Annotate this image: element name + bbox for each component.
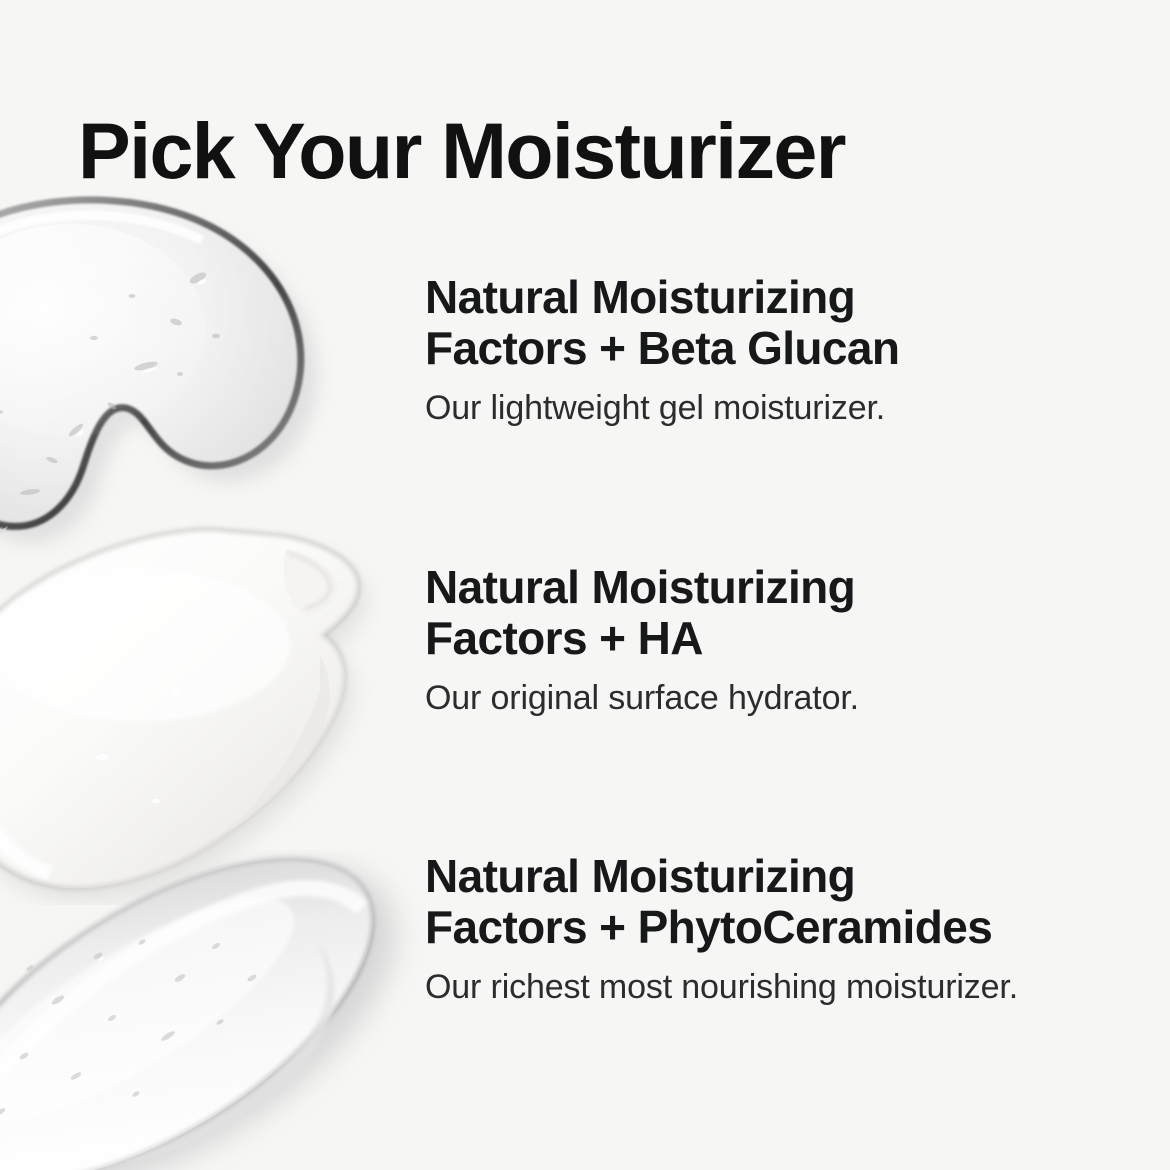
- product-list: Natural Moisturizing Factors + Beta Gluc…: [425, 0, 1115, 1170]
- product-name-line-1: Natural Moisturizing: [425, 850, 855, 902]
- white-cream-swatch-image: [0, 505, 410, 905]
- product-name: Natural Moisturizing Factors + Beta Gluc…: [425, 272, 1105, 374]
- product-description: Our richest most nourishing moisturizer.: [425, 967, 1105, 1008]
- rich-cream-swatch-image: [0, 850, 440, 1170]
- product-item-phytoceramides: Natural Moisturizing Factors + PhytoCera…: [425, 851, 1105, 1008]
- product-item-beta-glucan: Natural Moisturizing Factors + Beta Gluc…: [425, 272, 1105, 429]
- product-name: Natural Moisturizing Factors + HA: [425, 562, 1105, 664]
- product-name-line-2: Factors + PhytoCeramides: [425, 901, 992, 953]
- product-description: Our lightweight gel moisturizer.: [425, 388, 1105, 429]
- product-name-line-2: Factors + HA: [425, 612, 703, 664]
- product-name-line-2: Factors + Beta Glucan: [425, 322, 899, 374]
- moisturizer-comparison-poster: Pick Your Moisturizer: [0, 0, 1170, 1170]
- clear-gel-swatch-image: [0, 160, 400, 560]
- product-item-ha: Natural Moisturizing Factors + HA Our or…: [425, 562, 1105, 719]
- product-name: Natural Moisturizing Factors + PhytoCera…: [425, 851, 1105, 953]
- product-name-line-1: Natural Moisturizing: [425, 271, 855, 323]
- product-description: Our original surface hydrator.: [425, 678, 1105, 719]
- product-name-line-1: Natural Moisturizing: [425, 561, 855, 613]
